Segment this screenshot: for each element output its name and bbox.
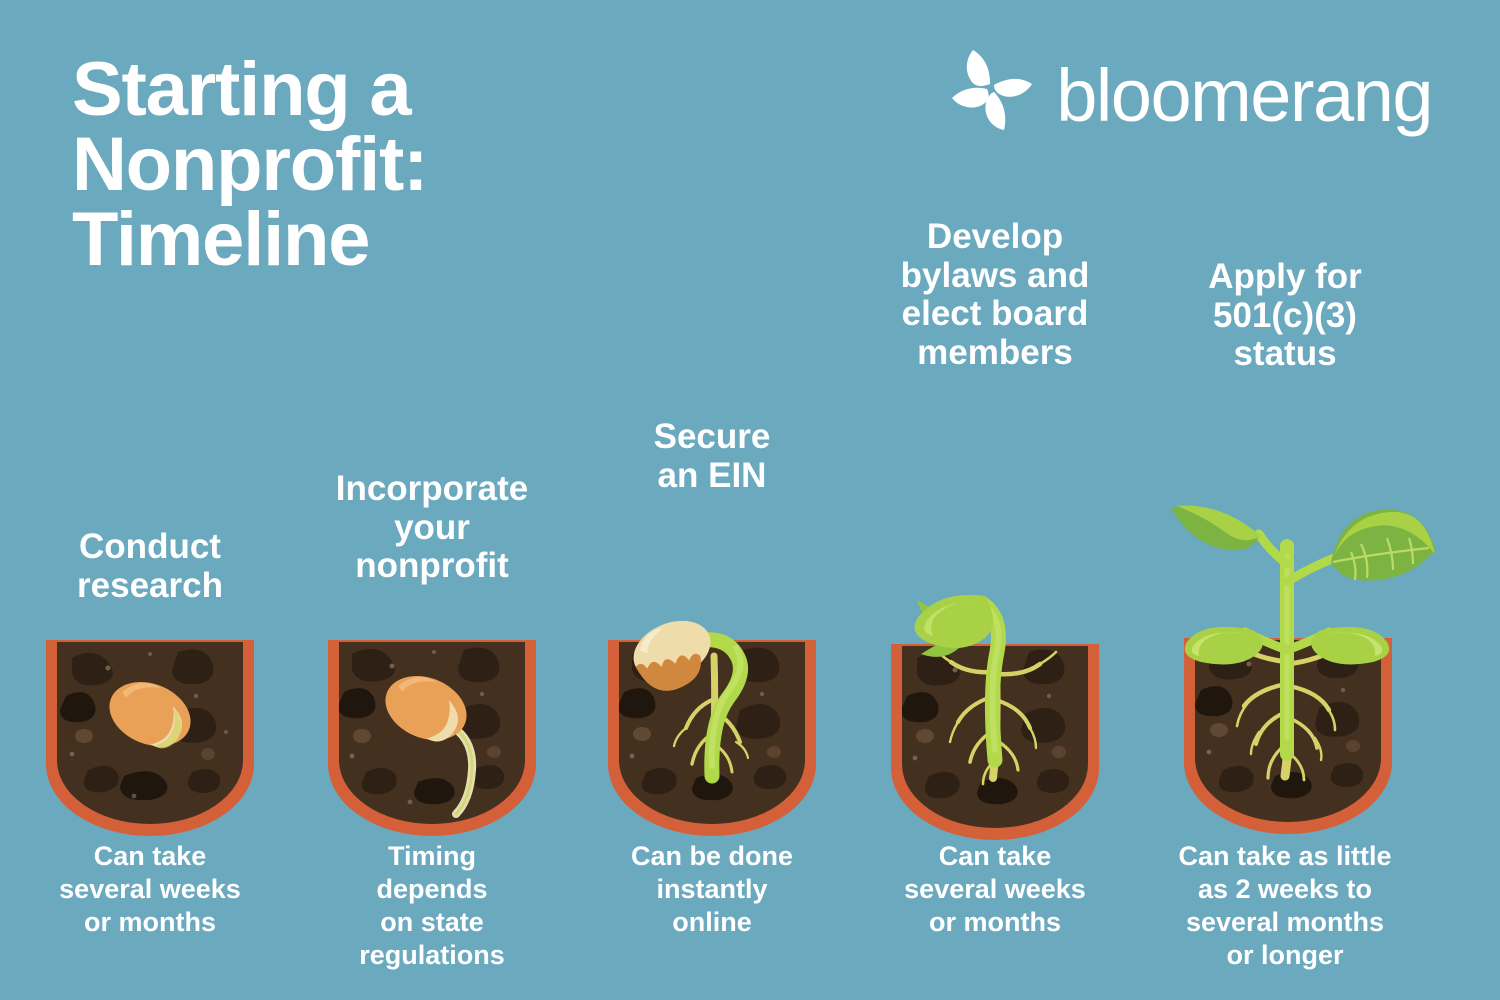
pot-with-leafy-plant [1135, 386, 1435, 836]
stage-title-apply-for-501c3-status: Apply for 501(c)(3) status [1135, 258, 1435, 374]
pot-with-cotyledon-seedling [845, 400, 1145, 840]
stage-title-develop-bylaws-and-elect-board-members: Develop bylaws and elect board members [845, 218, 1145, 372]
stage-caption-secure-an-ein: Can be done instantly online [562, 840, 862, 939]
stage-caption-apply-for-501c3-status: Can take as little as 2 weeks to several… [1135, 840, 1435, 972]
stage-caption-conduct-research: Can take several weeks or months [0, 840, 300, 939]
infographic-canvas: Starting a Nonprofit: Timeline bloomeran… [0, 0, 1500, 1000]
stage-conduct-research: Conduct research [0, 0, 300, 1000]
stage-develop-bylaws-and-elect-board-members: Develop bylaws and elect board members [845, 0, 1145, 1000]
stage-title-conduct-research: Conduct research [0, 528, 300, 605]
pot-with-dormant-seed [0, 636, 300, 836]
stage-apply-for-501c3-status: Apply for 501(c)(3) status [1135, 0, 1435, 1000]
stage-incorporate-your-nonprofit: Incorporate your nonprofit [282, 0, 582, 1000]
leaf-upper-left [1171, 506, 1261, 551]
pot-with-sprouting-seed [282, 636, 582, 836]
stage-caption-develop-bylaws-and-elect-board-members: Can take several weeks or months [845, 840, 1145, 939]
stage-title-incorporate-your-nonprofit: Incorporate your nonprofit [282, 470, 582, 586]
leaf-upper-right [1331, 510, 1435, 581]
stage-secure-an-ein: Secure an EIN [562, 0, 862, 1000]
stage-title-secure-an-ein: Secure an EIN [562, 418, 862, 495]
pot-with-hooked-sprout [562, 516, 862, 836]
stage-caption-incorporate-your-nonprofit: Timing depends on state regulations [282, 840, 582, 972]
